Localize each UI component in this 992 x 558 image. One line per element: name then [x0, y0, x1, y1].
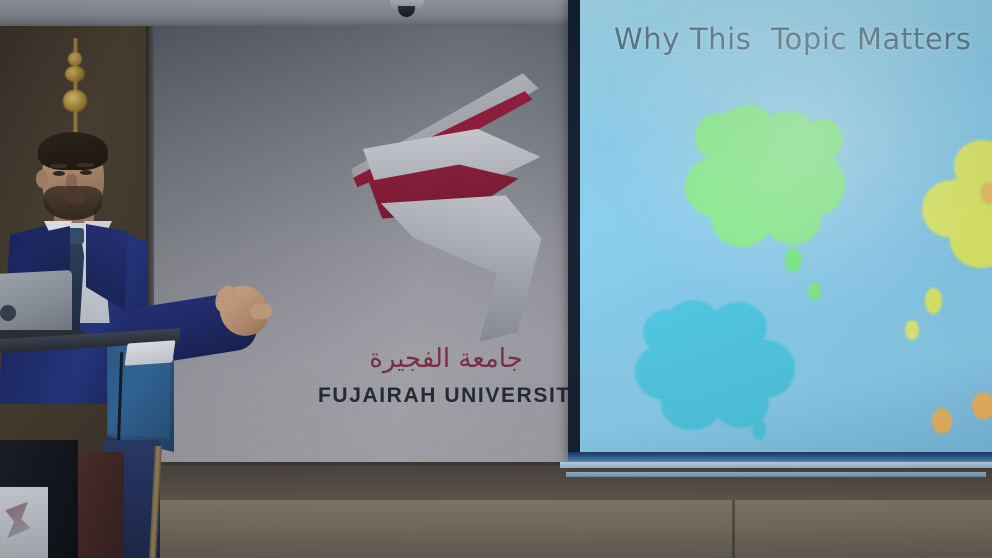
logo-swoosh-lower-grey — [381, 195, 544, 344]
screen-light-spill-upper — [560, 462, 992, 468]
speaker-hair — [38, 132, 108, 170]
yellow-bubble-tail-1 — [925, 288, 942, 314]
slide-title: Why This Topic Matters — [614, 22, 972, 56]
speaker-eyebrow-right — [77, 163, 94, 167]
speaker-eye-left — [53, 171, 65, 176]
yellow-bubble-shape — [920, 140, 992, 270]
cyan-thought-bubble — [635, 300, 795, 432]
sconce-bulb-top — [68, 52, 82, 66]
cyan-bubble-shape — [635, 300, 795, 432]
orange-blob-2 — [972, 392, 992, 420]
green-bubble-shape — [685, 105, 843, 251]
fujairah-university-logo: جامعة الفجيرة FUJAIRAH UNIVERSITY — [340, 68, 576, 368]
speaker-finger — [249, 303, 272, 320]
green-thought-bubble — [685, 105, 843, 251]
sconce-bulb-mid — [65, 66, 85, 82]
speaker-eyebrow-left — [50, 164, 67, 168]
speaker-beard — [44, 186, 102, 220]
screenshot-frame: جامعة الفجيرة FUJAIRAH UNIVERSITY — [0, 0, 992, 558]
speaker-ear — [36, 170, 48, 188]
orange-blob-3 — [980, 182, 992, 204]
screen-light-spill-lower — [566, 472, 986, 477]
podium-document — [124, 340, 175, 366]
speaker-mouth — [66, 194, 86, 203]
speaker-eye-right — [80, 170, 92, 175]
camera-lens — [398, 6, 415, 17]
security-camera-icon — [390, 0, 424, 21]
green-bubble-tail-2 — [808, 282, 821, 300]
logo-english-name: FUJAIRAH UNIVERSITY — [318, 384, 574, 408]
cyan-bubble-tail-1 — [752, 418, 766, 440]
green-bubble-tail-1 — [785, 248, 802, 272]
laptop-sticker — [0, 305, 16, 321]
floor-seam — [732, 500, 735, 558]
orange-blob-1 — [932, 408, 952, 434]
logo-arabic-name: جامعة الفجيرة — [318, 344, 574, 374]
yellow-thought-bubble — [920, 140, 992, 270]
sconce-bulb-bottom — [63, 90, 87, 112]
yellow-bubble-tail-2 — [905, 320, 919, 340]
screen-bottom-edge — [568, 452, 992, 462]
projected-slide[interactable]: Why This Topic Matters — [580, 0, 992, 452]
laptop — [0, 270, 72, 336]
